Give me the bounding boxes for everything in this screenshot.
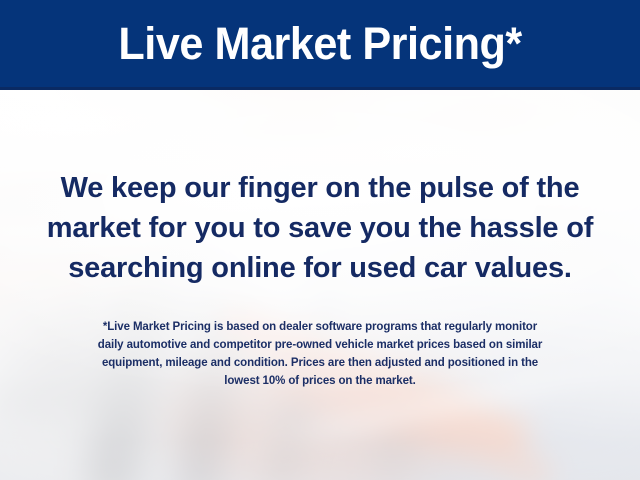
footnote-disclaimer: *Live Market Pricing is based on dealer …	[0, 318, 640, 390]
footnote-line-1: *Live Market Pricing is based on dealer …	[20, 318, 620, 336]
live-market-pricing-banner: Live Market Pricing* We keep our finger …	[0, 0, 640, 480]
footnote-line-4: lowest 10% of prices on the market.	[20, 372, 620, 390]
footnote-line-2: daily automotive and competitor pre-owne…	[20, 336, 620, 354]
footnote-line-3: equipment, mileage and condition. Prices…	[20, 354, 620, 372]
header-band: Live Market Pricing*	[0, 0, 640, 90]
headline-line-2: market for you to save you the hassle of	[24, 208, 616, 248]
banner-content: We keep our finger on the pulse of the m…	[0, 90, 640, 480]
banner-title: Live Market Pricing*	[118, 21, 521, 69]
headline-line-3: searching online for used car values.	[24, 248, 616, 288]
headline-line-1: We keep our finger on the pulse of the	[24, 168, 616, 208]
headline: We keep our finger on the pulse of the m…	[0, 168, 640, 288]
